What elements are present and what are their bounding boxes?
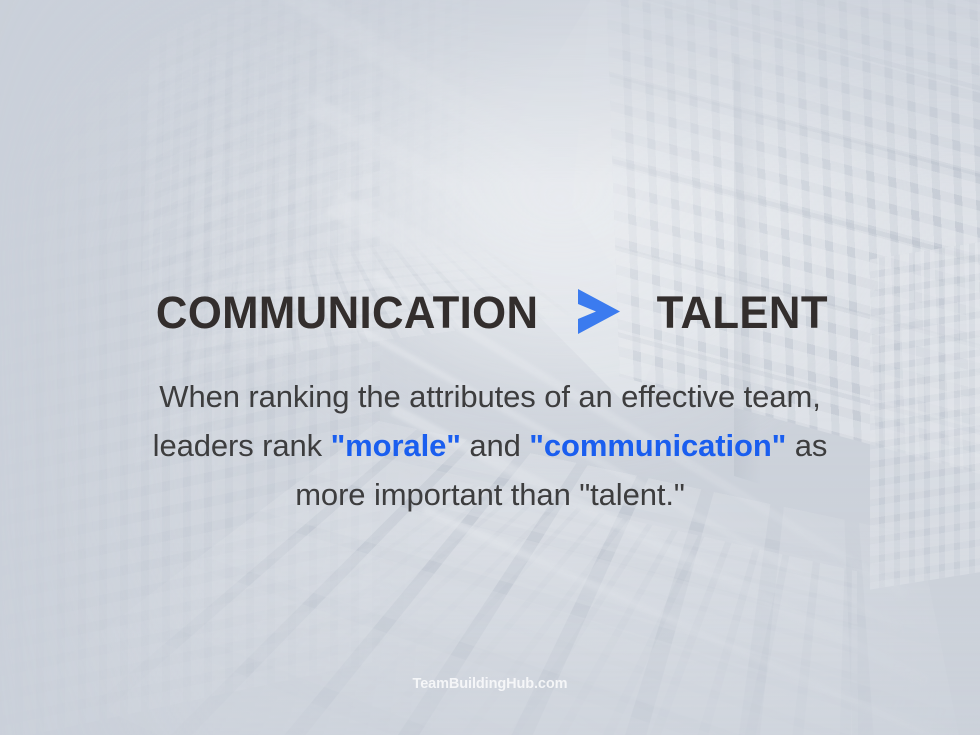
quote-line-2-suffix: as [786,428,827,463]
watermark: TeamBuildingHub.com [0,676,980,692]
headline-right-word: TALENT [657,290,828,335]
highlight-morale: "morale" [331,428,461,463]
quote-line-3-text: more important than "talent." [295,477,685,512]
quote-content: COMMUNICATION TALENT When ranking the at… [0,0,980,735]
quote-body: When ranking the attributes of an effect… [0,372,980,519]
quote-line-2-prefix: leaders rank [153,428,331,463]
greater-than-chevron-icon [570,283,628,341]
quote-body-line-2: leaders rank "morale" and "communication… [80,421,900,470]
headline-left-word: COMMUNICATION [155,290,537,335]
highlight-communication: "communication" [529,428,786,463]
quote-line-2-middle: and [461,428,529,463]
quote-body-line-3: more important than "talent." [80,470,900,519]
headline: COMMUNICATION TALENT [0,283,980,341]
quote-graphic-canvas: COMMUNICATION TALENT When ranking the at… [0,0,980,735]
quote-body-line-1: When ranking the attributes of an effect… [80,372,900,421]
quote-line-1-text: When ranking the attributes of an effect… [159,379,820,414]
